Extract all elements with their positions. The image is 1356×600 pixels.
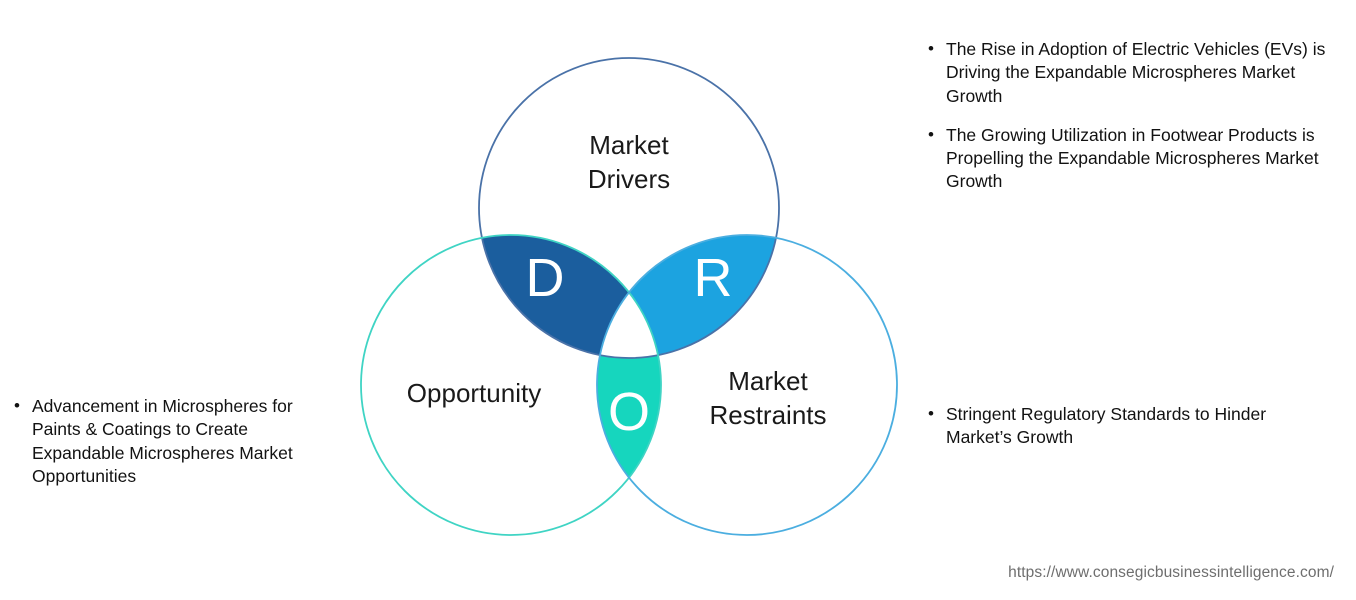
venn-svg: D R O Market Drivers Opportunity Market …: [340, 30, 920, 550]
list-item-text: The Rise in Adoption of Electric Vehicle…: [946, 38, 1328, 108]
market-restraints-bullet-list: • Stringent Regulatory Standards to Hind…: [928, 403, 1328, 450]
list-item: • Stringent Regulatory Standards to Hind…: [928, 403, 1328, 450]
list-item-text: Stringent Regulatory Standards to Hinder…: [946, 403, 1328, 450]
list-item: • The Growing Utilization in Footwear Pr…: [928, 124, 1328, 194]
venn-label-opportunity: Opportunity: [407, 378, 541, 408]
market-drivers-bullet-list: • The Rise in Adoption of Electric Vehic…: [928, 38, 1328, 194]
list-item: • Advancement in Microspheres for Paints…: [14, 395, 314, 488]
venn-label-drivers-line1: Market: [589, 130, 669, 160]
venn-label-restraints-line2: Restraints: [709, 400, 826, 430]
venn-label-restraints-line1: Market: [728, 366, 808, 396]
venn-letter-d: D: [526, 248, 565, 308]
opportunity-bullet-list: • Advancement in Microspheres for Paints…: [14, 395, 314, 488]
list-item: • The Rise in Adoption of Electric Vehic…: [928, 38, 1328, 108]
bullet-marker-icon: •: [14, 395, 32, 418]
list-item-text: Advancement in Microspheres for Paints &…: [32, 395, 314, 488]
diagram-canvas: D R O Market Drivers Opportunity Market …: [0, 0, 1356, 600]
list-item-text: The Growing Utilization in Footwear Prod…: [946, 124, 1328, 194]
bullet-marker-icon: •: [928, 403, 946, 426]
venn-letter-o: O: [608, 382, 650, 442]
venn-label-drivers-line2: Drivers: [588, 164, 670, 194]
bullet-marker-icon: •: [928, 124, 946, 147]
bullet-marker-icon: •: [928, 38, 946, 61]
venn-letter-r: R: [694, 248, 733, 308]
source-url[interactable]: https://www.consegicbusinessintelligence…: [1008, 564, 1334, 582]
venn-diagram: D R O Market Drivers Opportunity Market …: [340, 30, 920, 550]
